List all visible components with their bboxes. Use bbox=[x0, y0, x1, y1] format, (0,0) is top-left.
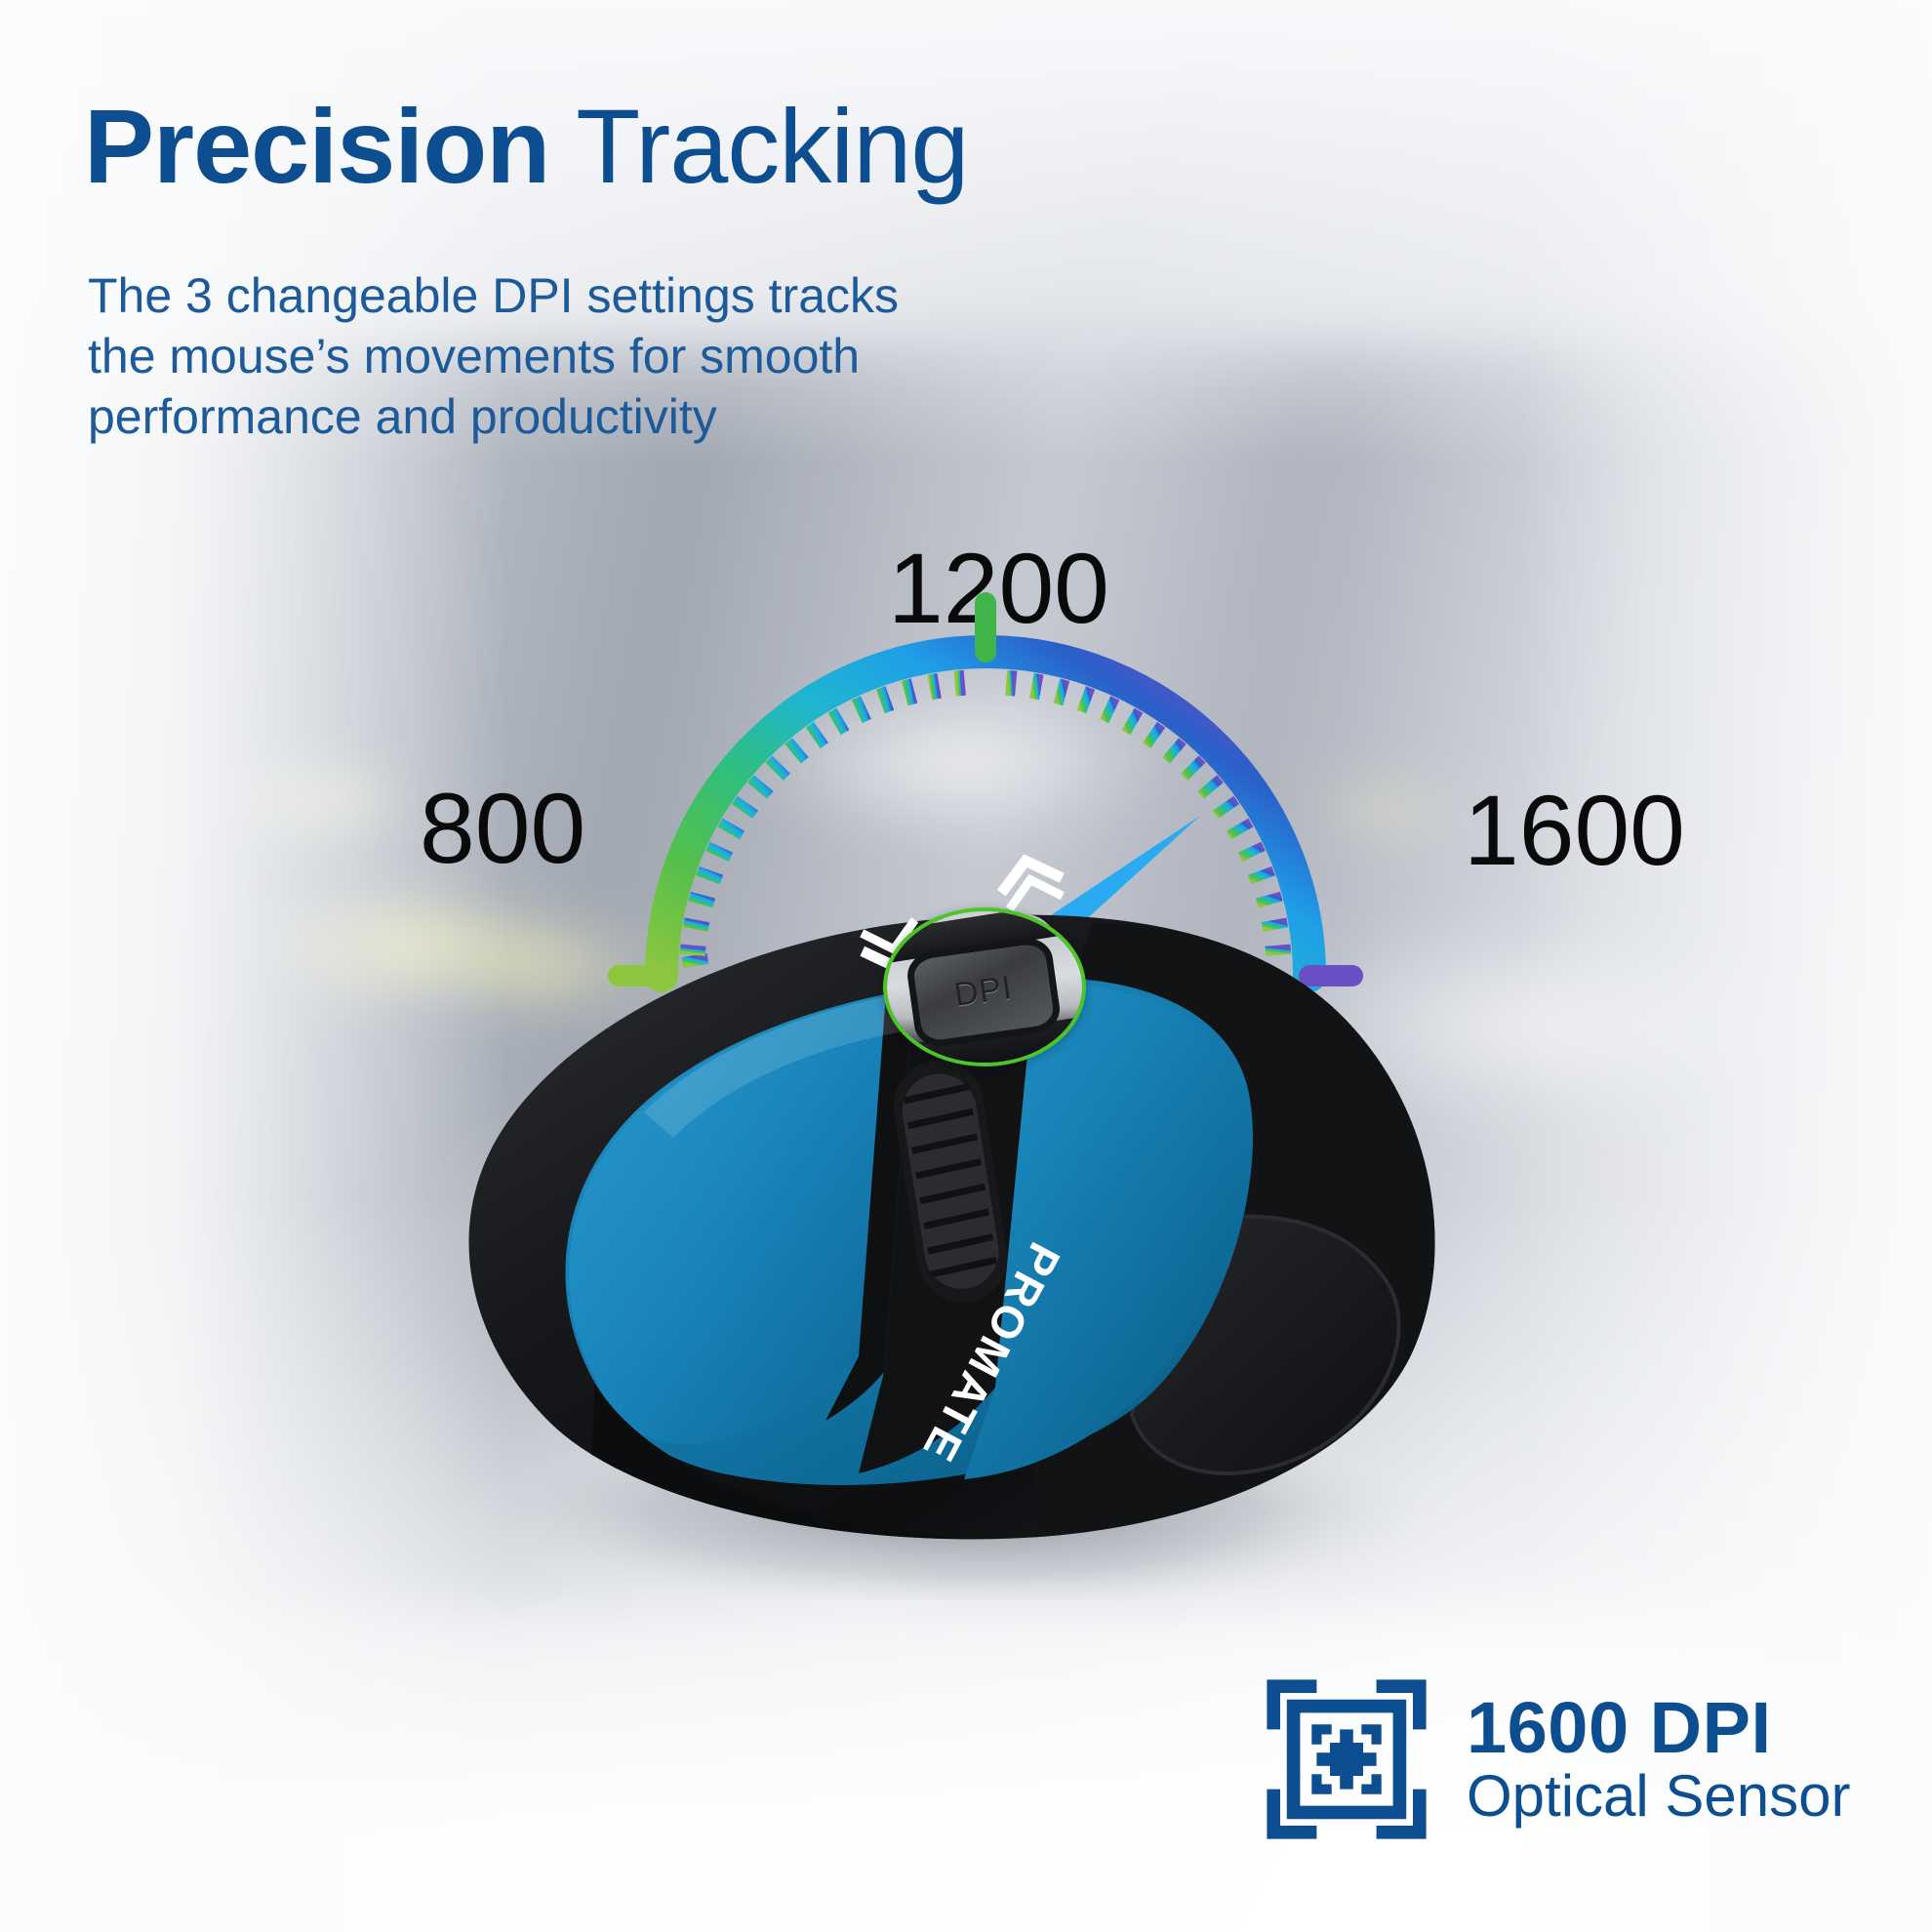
gauge-tick bbox=[1010, 670, 1012, 696]
subtitle-line-2: the mouse’s movements for smooth bbox=[88, 326, 899, 386]
gauge-tick bbox=[1082, 688, 1091, 711]
optical-sensor-badge: 1600 DPI Optical Sensor bbox=[1264, 1676, 1851, 1842]
gauge-tick bbox=[1166, 741, 1183, 760]
subtitle-line-1: The 3 changeable DPI settings tracks bbox=[88, 265, 899, 326]
gauge-tick bbox=[906, 680, 913, 704]
gauge-tick bbox=[1185, 759, 1202, 777]
dpi-button-callout: DPI bbox=[883, 907, 1086, 1067]
gauge-tick bbox=[932, 674, 937, 700]
dpi-key-label: DPI bbox=[951, 969, 1015, 1015]
gauge-tick bbox=[788, 741, 805, 760]
gauge-tick bbox=[1126, 710, 1139, 733]
page-subtitle: The 3 changeable DPI settings tracks the… bbox=[88, 265, 899, 447]
gauge-tick bbox=[1105, 698, 1115, 721]
dpi-key[interactable]: DPI bbox=[905, 935, 1063, 1049]
gauge-tick bbox=[1059, 680, 1066, 704]
badge-text-block: 1600 DPI Optical Sensor bbox=[1467, 1691, 1851, 1827]
gauge-tick bbox=[735, 800, 755, 815]
page-title: Precision Tracking bbox=[84, 94, 968, 199]
gauge-tick bbox=[810, 725, 825, 745]
subtitle-line-3: performance and productivity bbox=[88, 386, 899, 447]
background-right-fade bbox=[1522, 0, 1932, 1932]
forward-chevron-icon bbox=[995, 854, 1067, 910]
page-title-regular: Tracking bbox=[549, 87, 968, 205]
optical-sensor-icon bbox=[1264, 1676, 1429, 1842]
gauge-tick bbox=[881, 688, 890, 711]
gauge-tick bbox=[1147, 725, 1161, 745]
gauge-tick bbox=[1034, 674, 1039, 700]
badge-subtitle: Optical Sensor bbox=[1467, 1765, 1851, 1828]
marketing-banner: Precision Tracking The 3 changeable DPI … bbox=[0, 0, 1932, 1932]
gauge-tick bbox=[959, 670, 961, 696]
badge-title: 1600 DPI bbox=[1467, 1691, 1851, 1764]
gauge-tick bbox=[750, 779, 770, 795]
callout-photo: DPI bbox=[883, 907, 1086, 1067]
page-title-bold: Precision bbox=[84, 87, 549, 205]
gauge-tick bbox=[1201, 779, 1221, 795]
gauge-tick bbox=[832, 710, 845, 733]
gauge-tick bbox=[769, 759, 786, 777]
gauge-tick bbox=[856, 698, 866, 721]
